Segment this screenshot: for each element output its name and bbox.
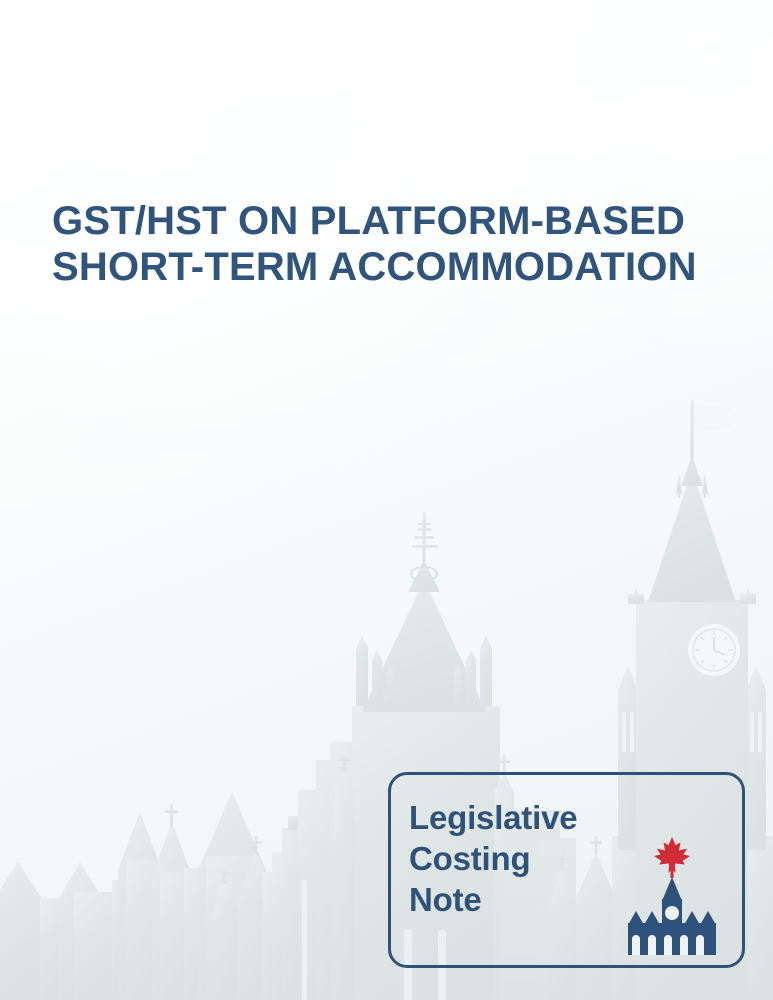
page-title-line-1: GST/HST ON PLATFORM-BASED xyxy=(52,198,742,244)
peace-tower-clock xyxy=(688,624,740,676)
cover-page: GST/HST ON PLATFORM-BASED SHORT-TERM ACC… xyxy=(0,0,773,1000)
logo-text-line-1: Legislative xyxy=(409,797,577,838)
legislative-costing-note-logo: Legislative Costing Note xyxy=(388,772,745,968)
page-title: GST/HST ON PLATFORM-BASED SHORT-TERM ACC… xyxy=(52,198,742,290)
logo-text-block: Legislative Costing Note xyxy=(409,797,577,920)
maple-leaf-icon xyxy=(654,837,690,878)
flag-icon xyxy=(694,404,733,432)
logo-text-line-3: Note xyxy=(409,879,577,920)
logo-text-line-2: Costing xyxy=(409,838,577,879)
parliament-building-icon xyxy=(614,835,730,955)
page-title-line-2: SHORT-TERM ACCOMMODATION xyxy=(52,244,742,290)
